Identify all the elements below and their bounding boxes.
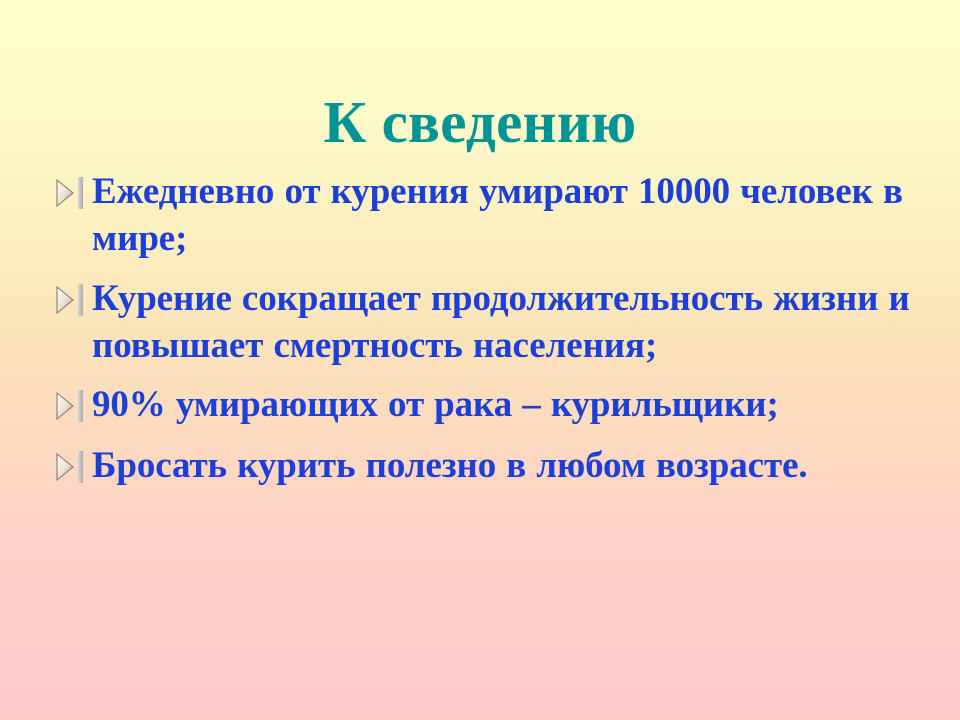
slide-canvas: К сведению <box>0 0 960 720</box>
triangle-arrow-bullet-icon <box>52 173 92 217</box>
list-item: Курение сокращает продолжительность жизн… <box>52 275 912 370</box>
bullet-item-text: 90% умирающих от рака – курильщики; <box>92 381 912 428</box>
triangle-arrow-bullet-icon <box>52 280 92 324</box>
bullet-item-text: Курение сокращает продолжительность жизн… <box>92 275 912 370</box>
page-title: К сведению <box>323 92 636 154</box>
bullet-list: Ежедневно от курения умирают 10000 челов… <box>52 168 912 491</box>
triangle-arrow-bullet-icon <box>52 386 92 430</box>
triangle-arrow-bullet-icon <box>52 447 92 491</box>
bullet-item-text: Ежедневно от курения умирают 10000 челов… <box>92 168 912 263</box>
list-item: 90% умирающих от рака – курильщики; <box>52 381 912 430</box>
list-item: Ежедневно от курения умирают 10000 челов… <box>52 168 912 263</box>
list-item: Бросать курить полезно в любом возрасте. <box>52 442 912 491</box>
bullet-item-text: Бросать курить полезно в любом возрасте. <box>92 442 912 489</box>
